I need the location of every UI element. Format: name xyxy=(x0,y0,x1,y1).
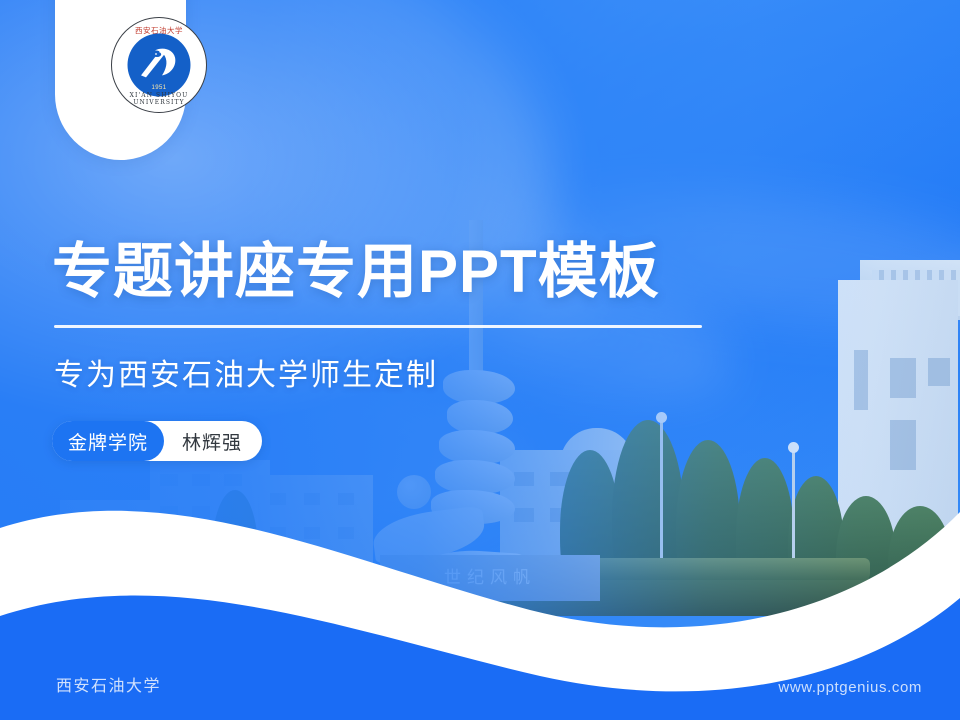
footer-website-url[interactable]: www.pptgenius.com xyxy=(778,679,922,696)
author-badge[interactable]: 金牌学院 林辉强 xyxy=(52,421,262,461)
page-title: 专题讲座专用PPT模板 xyxy=(52,240,660,303)
logo-xy-mark xyxy=(135,43,183,83)
badge-author-name: 林辉强 xyxy=(164,428,242,455)
title-divider xyxy=(54,325,702,328)
badge-tag: 金牌学院 xyxy=(52,421,164,461)
logo-english-name: XI'AN SHIYOU UNIVERSITY xyxy=(112,92,206,106)
logo-founding-year: 1951 xyxy=(112,85,206,91)
page-subtitle: 专为西安石油大学师生定制 xyxy=(54,350,438,394)
footer-university-name: 西安石油大学 xyxy=(56,672,161,696)
ppt-title-slide: 世纪风帆 西安石油大学 1951 XI'AN SHIYOU UNIVERSITY xyxy=(0,0,960,720)
logo-banner-tab: 西安石油大学 1951 XI'AN SHIYOU UNIVERSITY xyxy=(55,0,186,160)
university-logo: 西安石油大学 1951 XI'AN SHIYOU UNIVERSITY xyxy=(111,17,207,113)
